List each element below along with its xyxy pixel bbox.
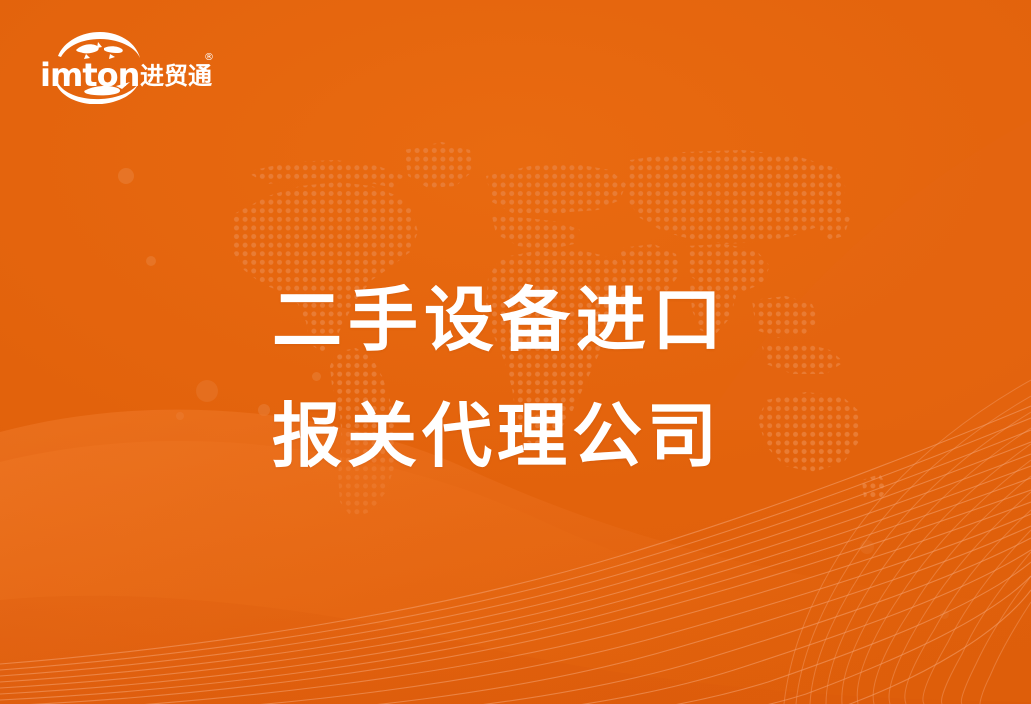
logo-chinese-name: 进贸通 — [140, 62, 212, 90]
logo-trademark-symbol: ® — [204, 52, 214, 63]
headline-line-1: 二手设备进口 — [272, 262, 962, 378]
logo-wordmark: imton — [40, 56, 139, 94]
logo-svg: imton 进贸通 ® — [40, 28, 216, 104]
imton-logo[interactable]: imton 进贸通 ® — [40, 28, 216, 104]
headline-block: 二手设备进口 报关代理公司 — [272, 262, 962, 494]
headline-line-2: 报关代理公司 — [272, 378, 962, 494]
banner-root: imton 进贸通 ® 二手设备进口 报关代理公司 — [0, 0, 1031, 704]
